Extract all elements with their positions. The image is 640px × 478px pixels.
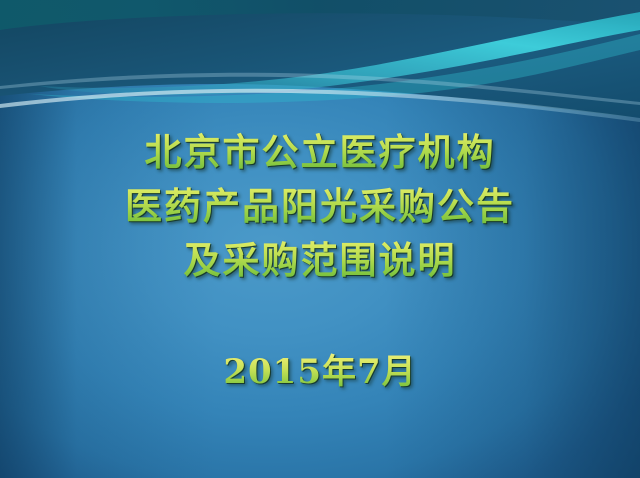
title-line-3: 及采购范围说明 [0,234,640,288]
title-line-2: 医药产品阳光采购公告 [0,180,640,234]
header-decoration [0,0,640,140]
title-line-1: 北京市公立医疗机构 [0,126,640,180]
date-text: 2015年7月 [223,351,416,393]
subtitle-date: 2015年7月 [0,351,640,393]
page-title: 北京市公立医疗机构 医药产品阳光采购公告 及采购范围说明 [0,126,640,288]
header-wave-graphic [0,0,640,140]
title-slide: 北京市公立医疗机构 医药产品阳光采购公告 及采购范围说明 2015年7月 [0,0,640,478]
